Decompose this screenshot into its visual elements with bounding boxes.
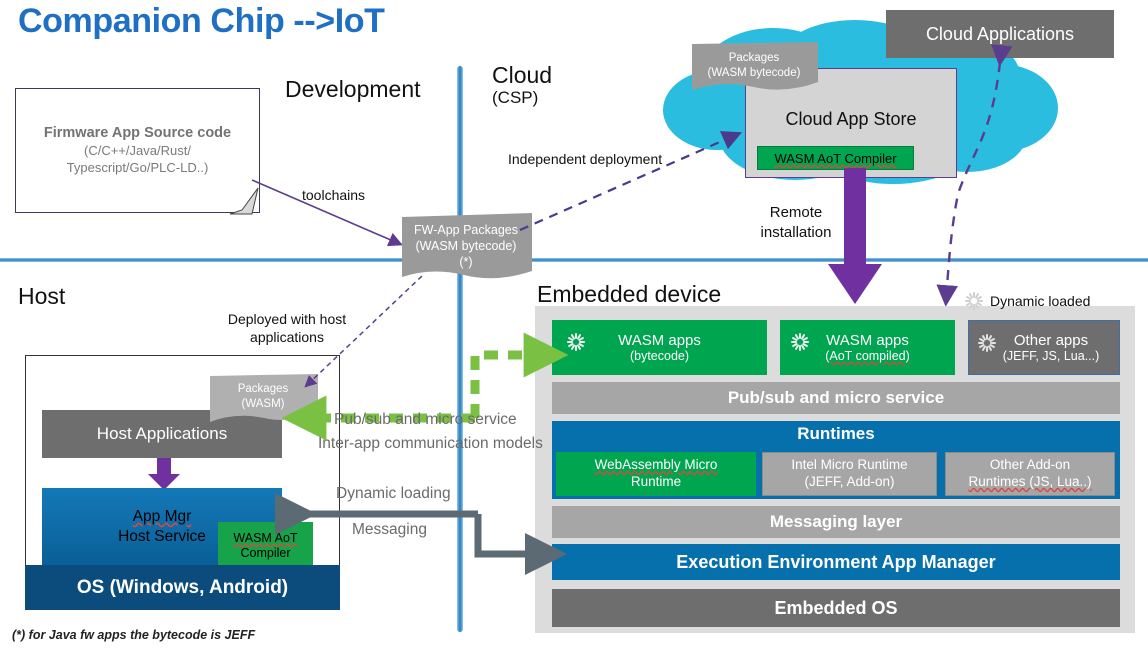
page-title: Companion Chip -->IoT xyxy=(18,2,385,41)
label-dynamic-loading: Dynamic loading xyxy=(336,484,451,504)
spinner-icon xyxy=(977,333,997,353)
cloud-wasm-aot-compiler: WASM AoT Compiler xyxy=(757,146,914,170)
runtime-0-line1: WebAssembly Micro xyxy=(595,457,718,474)
cloud-pkg-line2: (WASM bytecode) xyxy=(708,66,801,81)
runtime-intel-micro: Intel Micro Runtime (JEFF, Add-on) xyxy=(762,452,937,496)
embedded-app-1-text: WASM apps (AoT compiled) xyxy=(825,332,910,364)
fw-pkg-line2: (WASM bytecode) xyxy=(416,238,517,254)
embedded-app-1-sub: (AoT compiled) xyxy=(825,349,910,363)
cloud-device-link-arrow xyxy=(920,44,1050,314)
embedded-os-bar: Embedded OS xyxy=(552,589,1120,627)
spinner-icon xyxy=(566,332,586,352)
label-toolchains: toolchains xyxy=(302,187,365,205)
label-interapp-communication: Inter-app communication models xyxy=(318,434,543,454)
cloud-wasm-aot-compiler-label: WASM AoT Compiler xyxy=(774,151,896,166)
label-independent-deployment: Independent deployment xyxy=(508,151,662,169)
embedded-pubsub-bar: Pub/sub and micro service xyxy=(552,382,1120,414)
embedded-app-0-sub: (bytecode) xyxy=(618,349,701,363)
runtime-1-line2: (JEFF, Add-on) xyxy=(804,474,894,491)
app-mgr-line2: Host Service xyxy=(118,527,206,546)
embedded-app-other: Other apps (JEFF, JS, Lua...) xyxy=(968,320,1120,375)
label-dynamic-loaded: Dynamic loaded xyxy=(990,293,1090,311)
spinner-icon xyxy=(790,332,810,352)
label-messaging: Messaging xyxy=(352,520,427,540)
diagram-canvas: Companion Chip -->IoT Development Cloud … xyxy=(0,0,1148,653)
embedded-app-1-name: WASM apps xyxy=(826,332,909,349)
spinner-icon-legend xyxy=(963,290,985,312)
host-internal-arrow xyxy=(148,458,180,490)
remote-line1: Remote xyxy=(770,203,823,223)
fw-pkg-line1: FW-App Packages xyxy=(414,222,518,238)
cloud-pkg-line1: Packages xyxy=(729,51,780,66)
section-heading-development: Development xyxy=(285,76,421,103)
embedded-app-0-text: WASM apps (bytecode) xyxy=(618,332,701,364)
embedded-app-manager-bar: Execution Environment App Manager xyxy=(552,544,1120,580)
fw-app-packages-callout: FW-App Packages (WASM bytecode) (*) xyxy=(398,213,534,279)
section-heading-embedded: Embedded device xyxy=(537,281,721,308)
runtime-other-addon: Other Add-on Runtimes (JS, Lua..) xyxy=(945,452,1115,496)
footnote: (*) for Java fw apps the bytecode is JEF… xyxy=(12,628,255,642)
section-heading-cloud: Cloud (CSP) xyxy=(492,62,552,107)
embedded-app-2-name: Other apps xyxy=(1014,332,1088,349)
embedded-app-0-name: WASM apps xyxy=(618,332,701,349)
runtime-0-line2: Runtime xyxy=(631,474,681,491)
firmware-line1: (C/C++/Java/Rust/ xyxy=(84,143,191,160)
embedded-app-2-sub: (JEFF, JS, Lua...) xyxy=(1003,349,1100,363)
cloud-sublabel: (CSP) xyxy=(492,89,552,107)
embedded-messaging-bar: Messaging layer xyxy=(552,506,1120,538)
cloud-packages-callout: Packages (WASM bytecode) xyxy=(690,44,818,88)
remote-installation-arrow xyxy=(828,168,882,308)
firmware-line2: Typescript/Go/PLC-LD..) xyxy=(67,160,209,177)
fw-pkg-line3: (*) xyxy=(459,254,472,270)
label-remote-installation: Remote installation xyxy=(760,203,832,242)
label-pubsub-micro-service: Pub/sub and micro service xyxy=(334,410,517,430)
cloud-label: Cloud xyxy=(492,62,552,88)
embedded-app-2-text: Other apps (JEFF, JS, Lua...) xyxy=(989,332,1100,364)
independent-deployment-arrow xyxy=(520,128,750,236)
runtime-2-line1: Other Add-on xyxy=(990,457,1070,474)
section-heading-host: Host xyxy=(18,283,65,310)
embedded-app-wasm-aot: WASM apps (AoT compiled) xyxy=(780,320,955,375)
embedded-app-wasm-bytecode: WASM apps (bytecode) xyxy=(552,320,767,375)
runtime-1-line1: Intel Micro Runtime xyxy=(791,457,907,474)
firmware-title: Firmware App Source code xyxy=(44,124,231,144)
firmware-source-box: Firmware App Source code (C/C++/Java/Rus… xyxy=(15,88,260,213)
runtime-2-line2: Runtimes (JS, Lua..) xyxy=(968,474,1091,491)
pubsub-green-dashed-arrow xyxy=(275,330,565,450)
app-mgr-line1: App Mgr xyxy=(133,507,192,526)
runtime-wamr: WebAssembly Micro Runtime xyxy=(556,452,756,496)
embedded-runtimes-title: Runtimes xyxy=(552,422,1120,446)
remote-line2: installation xyxy=(761,223,832,243)
